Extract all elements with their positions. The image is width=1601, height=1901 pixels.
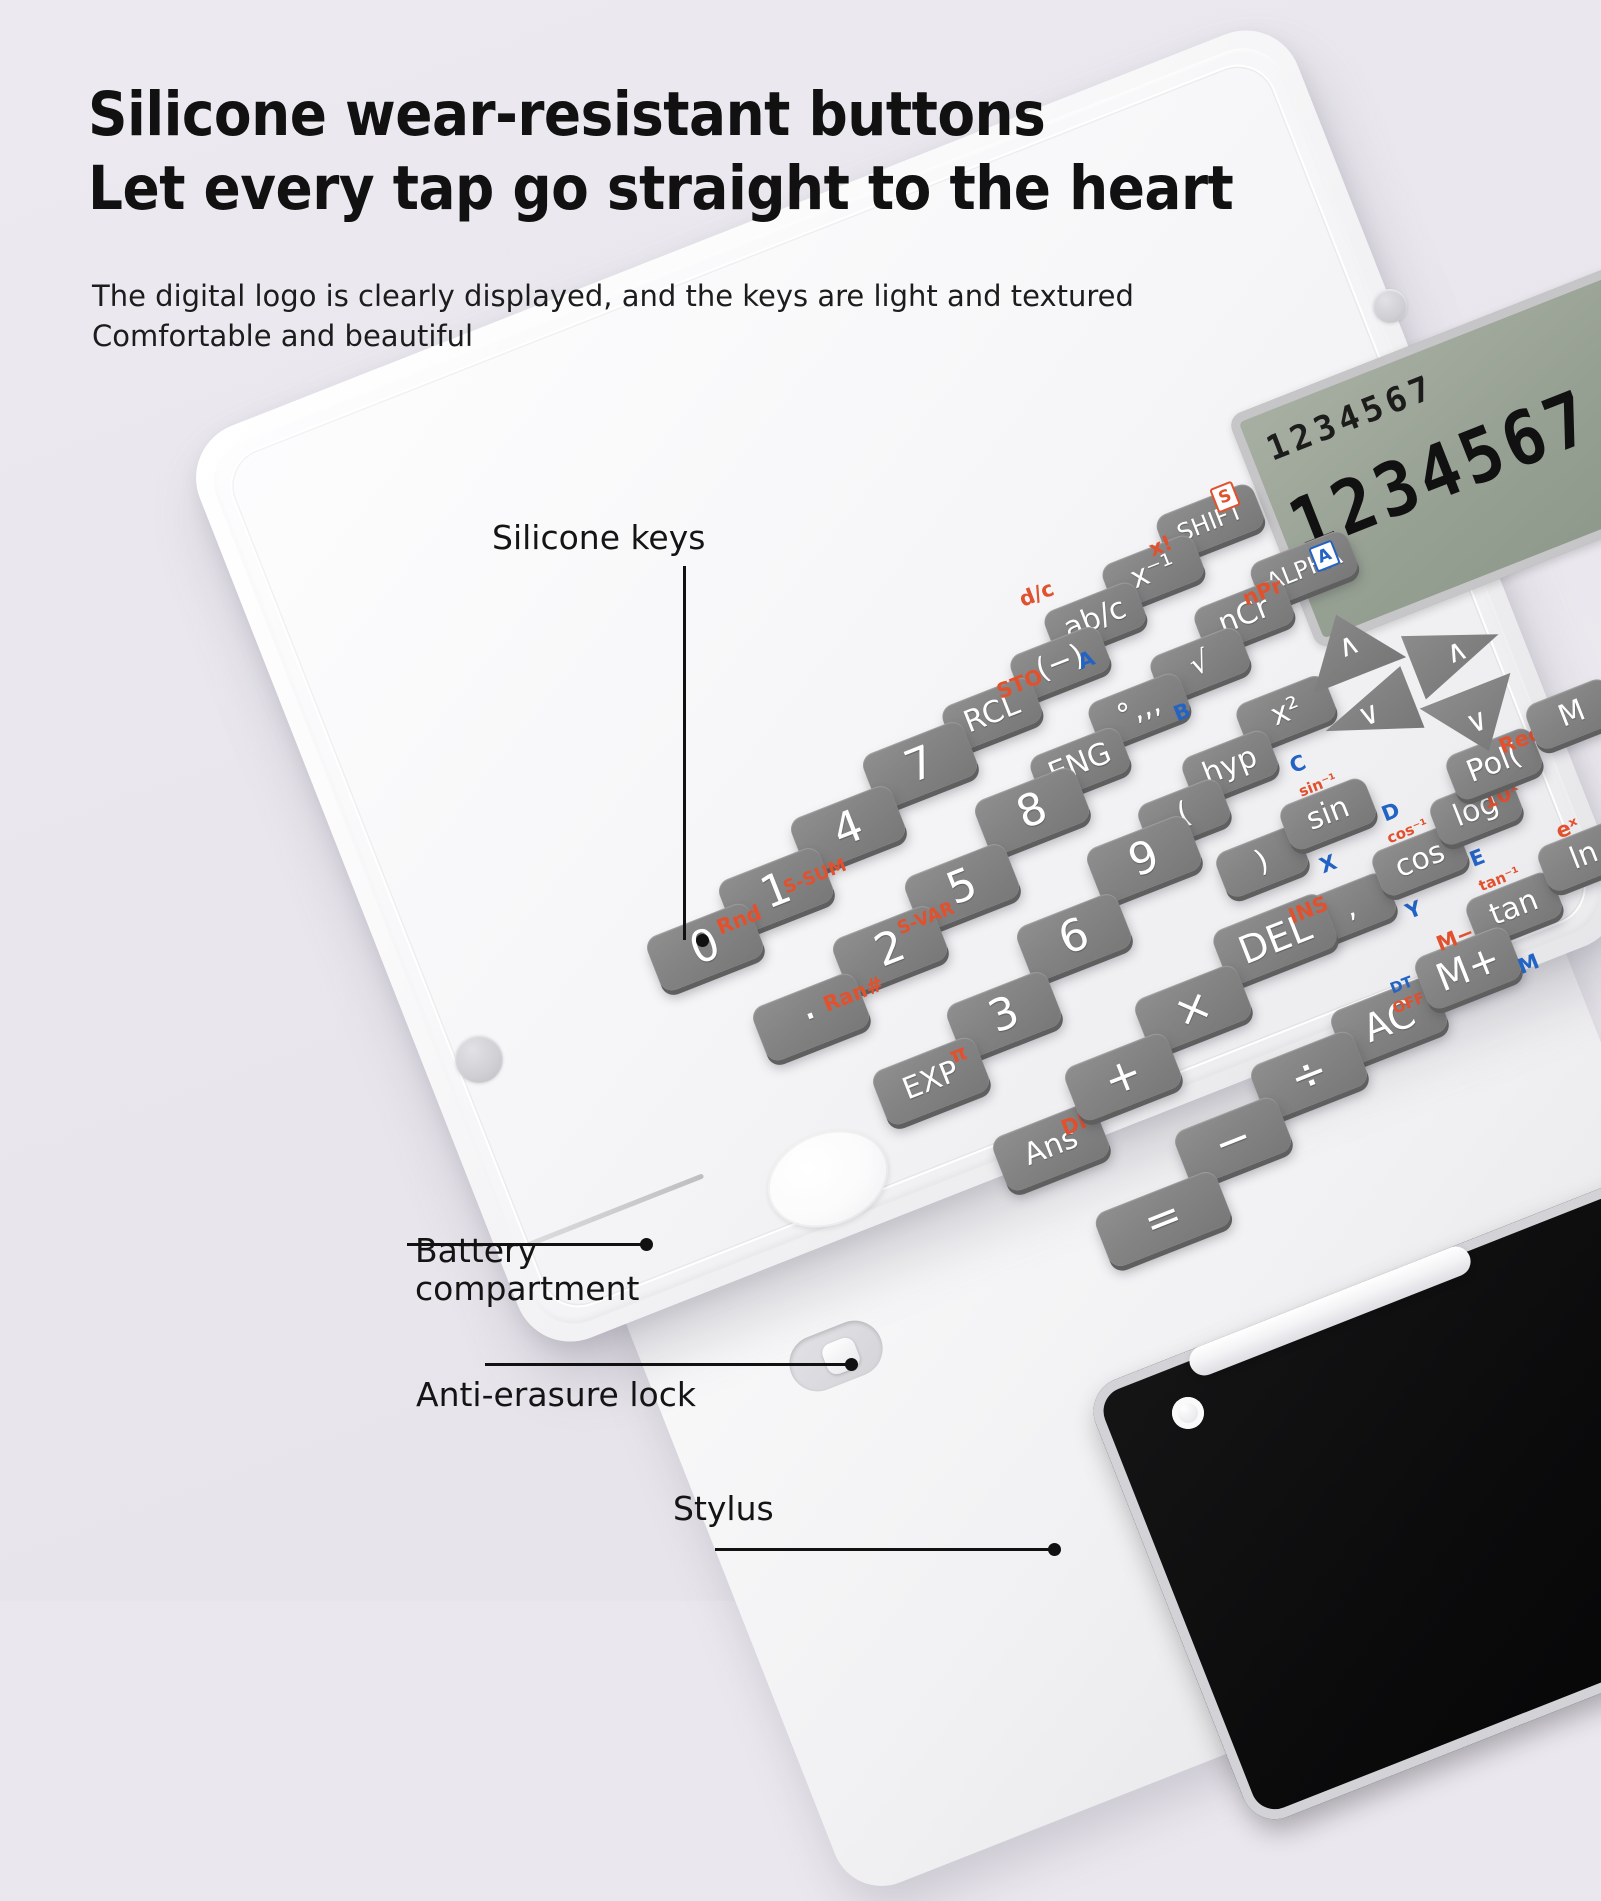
leader-line-silicone-keys (683, 566, 686, 940)
legend-alpha-e: E (1466, 844, 1488, 872)
legend-alpha-d: D (1378, 798, 1403, 827)
headline-line-2: Let every tap go straight to the heart (88, 152, 1358, 226)
leader-dot-battery-compartment (640, 1238, 653, 1251)
callout-silicone-keys: Silicone keys (492, 517, 705, 558)
subheadline-line-1: The digital logo is clearly displayed, a… (92, 276, 1292, 316)
key-6[interactable]: 6 (1013, 890, 1135, 984)
leader-dot-anti-erasure-lock (845, 1358, 858, 1371)
leader-dot-silicone-keys (696, 934, 709, 947)
calculator-device: 1234567 1234567 SHIFT S ALPHA A x⁻¹ x! a… (0, 0, 1601, 1601)
legend-dc: d/c (1016, 576, 1058, 611)
key-add[interactable]: + (1061, 1030, 1185, 1124)
key-exp[interactable]: EXP (869, 1034, 993, 1128)
headline-line-1: Silicone wear-resistant buttons (88, 78, 1358, 152)
key-equals[interactable]: = (1092, 1168, 1234, 1270)
page-subheadline: The digital logo is clearly displayed, a… (92, 276, 1292, 356)
callout-anti-erasure-lock: Anti-erasure lock (416, 1374, 696, 1415)
legend-alpha-c: C (1286, 750, 1309, 778)
leader-line-stylus (715, 1548, 1055, 1551)
legend-alpha-y: Y (1402, 896, 1425, 924)
subheadline-line-2: Comfortable and beautiful (92, 316, 1292, 356)
page-headline: Silicone wear-resistant buttons Let ever… (88, 78, 1358, 226)
legend-alpha-x: X (1316, 850, 1340, 878)
keypad: SHIFT S ALPHA A x⁻¹ x! ab/c d/c nCr nPr … (0, 0, 1601, 1601)
leader-dot-stylus (1048, 1543, 1061, 1556)
key-subtract[interactable]: − (1171, 1094, 1295, 1188)
callout-stylus: Stylus (673, 1488, 774, 1529)
leader-line-battery-compartment (407, 1243, 647, 1246)
leader-line-anti-erasure-lock (485, 1363, 852, 1366)
